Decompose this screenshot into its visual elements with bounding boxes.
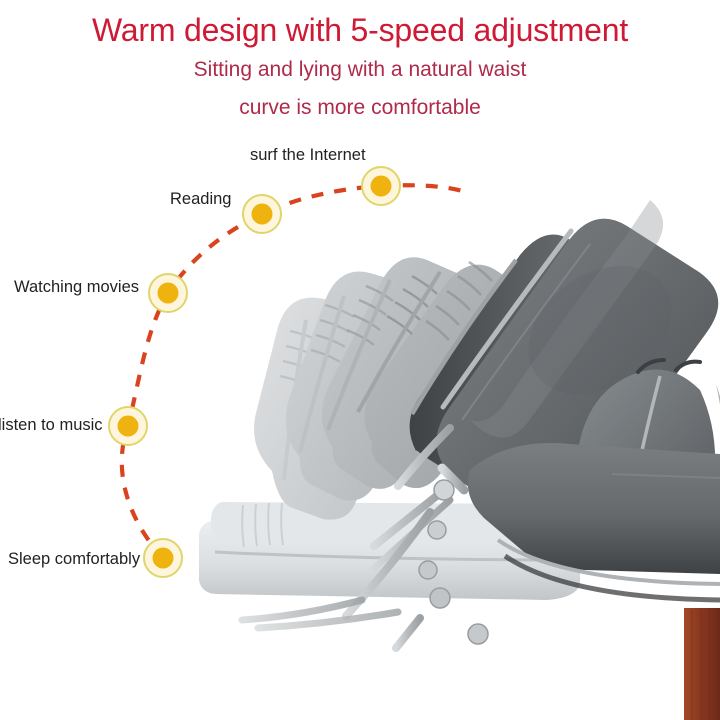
dashed-arc-path <box>122 185 466 558</box>
node-surf-the-internet[interactable] <box>362 167 400 205</box>
label-reading: Reading <box>170 191 231 208</box>
node-reading[interactable] <box>243 195 281 233</box>
label-surf-the-internet: surf the Internet <box>250 147 366 164</box>
label-sleep-comfortably: Sleep comfortably <box>8 551 140 568</box>
recline-angle-arc <box>0 0 720 720</box>
label-listen-to-music: listen to music <box>0 417 103 434</box>
node-listen-to-music[interactable] <box>109 407 147 445</box>
label-watching-movies: Watching movies <box>14 279 139 296</box>
node-watching-movies[interactable] <box>149 274 187 312</box>
product-infographic: Warm design with 5-speed adjustment Sitt… <box>0 0 720 720</box>
node-sleep-comfortably[interactable] <box>144 539 182 577</box>
